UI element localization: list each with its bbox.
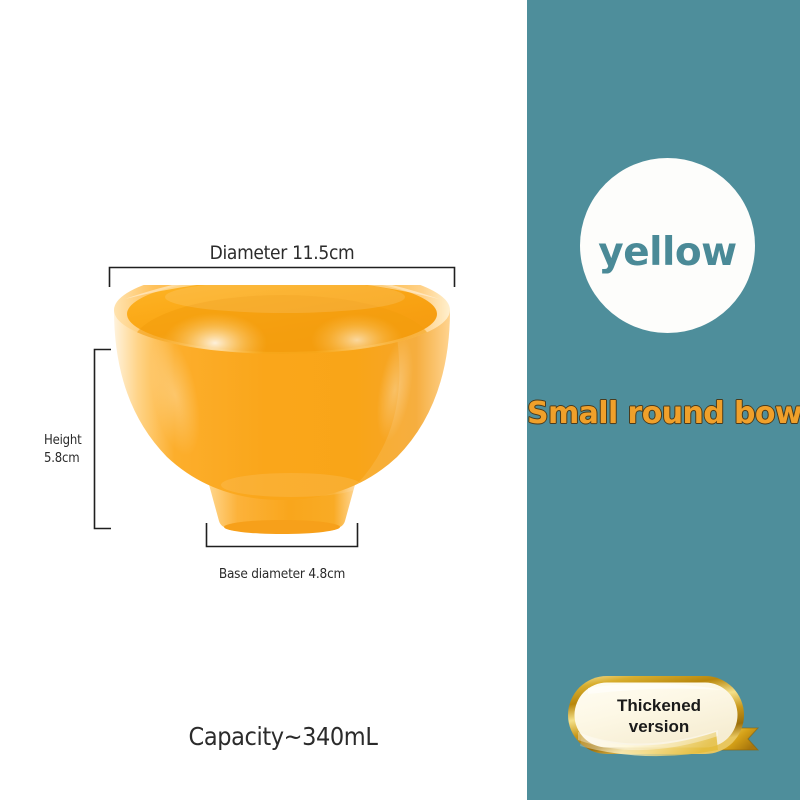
product-title: Small round bowl	[527, 396, 800, 431]
base-diameter-label: Base diameter 4.8cm	[196, 566, 368, 582]
height-label: Height 5.8cm	[44, 432, 92, 467]
height-label-line2: 5.8cm	[44, 450, 92, 468]
thickened-version-badge: Thickened version	[566, 672, 762, 762]
gold-ribbon-shape	[566, 672, 762, 762]
height-label-line1: Height	[44, 432, 92, 450]
diameter-label: Diameter 11.5cm	[112, 242, 452, 264]
capacity-label: Capacity~340mL	[103, 722, 463, 751]
color-swatch-badge: yellow	[580, 158, 755, 333]
color-name-label: yellow	[598, 230, 736, 275]
bowl-image	[95, 285, 470, 540]
bowl-illustration-area: Diameter 11.5cm Base diameter 4.8cm Heig…	[0, 0, 527, 800]
product-image-canvas: Diameter 11.5cm Base diameter 4.8cm Heig…	[0, 0, 800, 800]
